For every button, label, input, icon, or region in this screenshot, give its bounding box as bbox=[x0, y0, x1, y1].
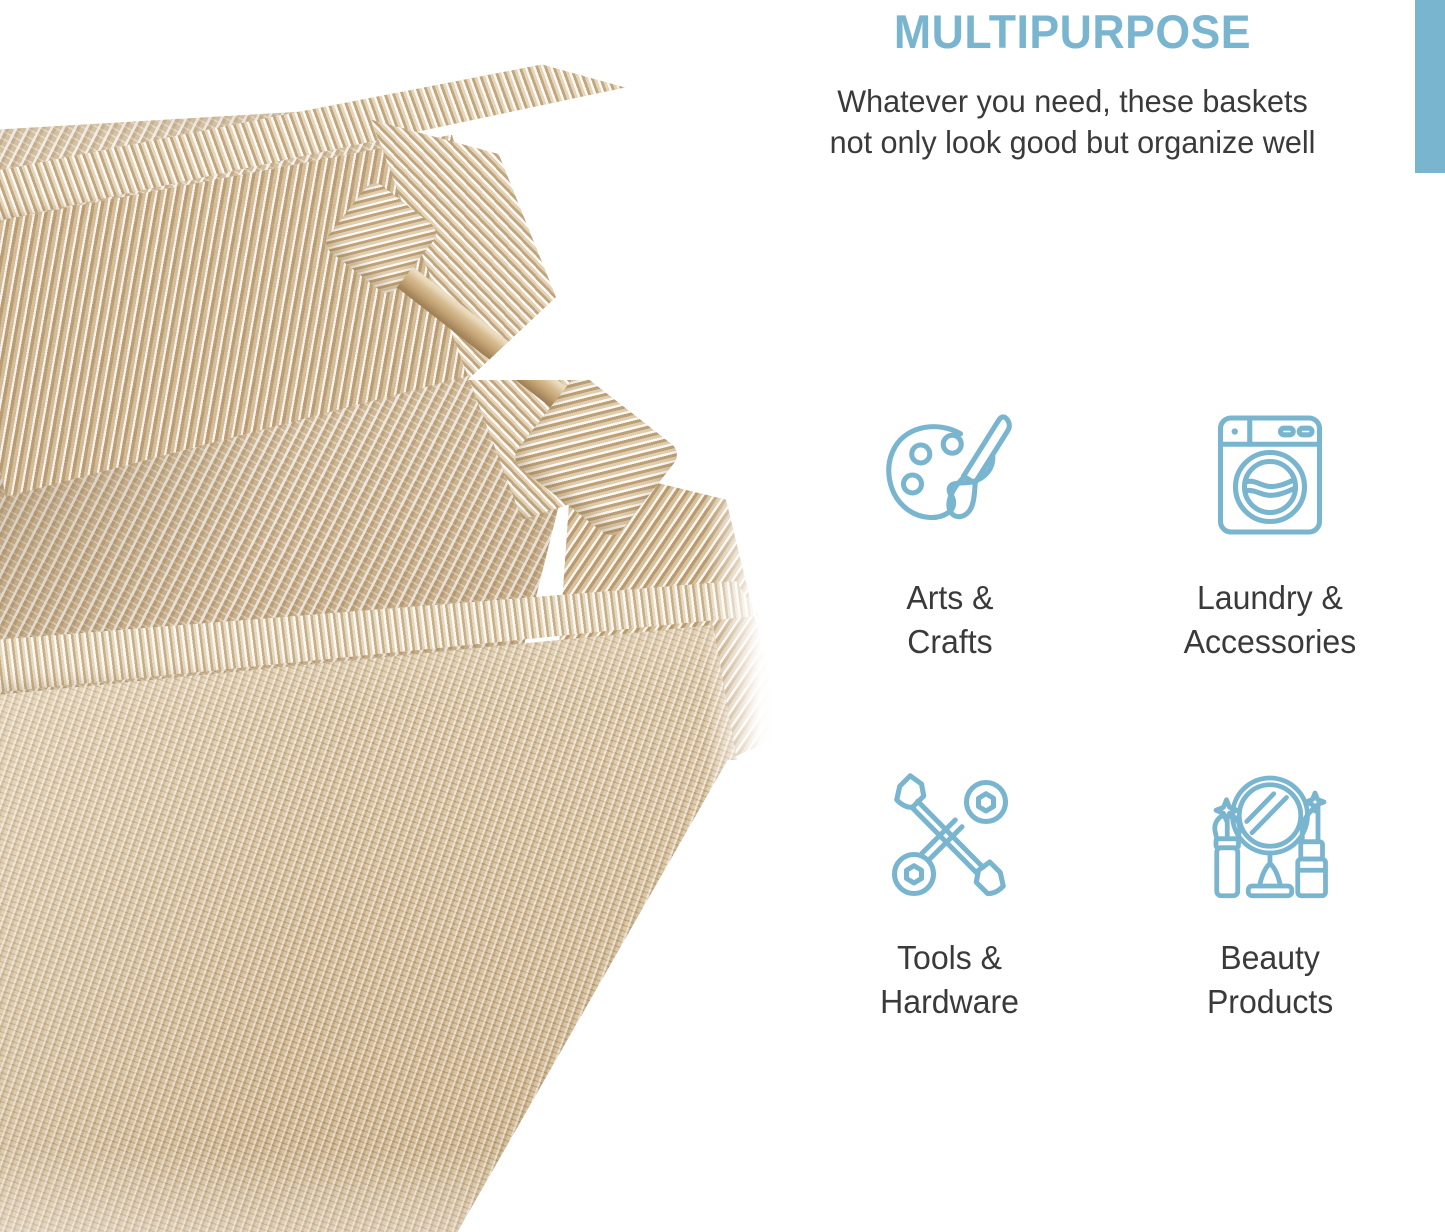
product-photo bbox=[0, 0, 775, 1232]
header-block: MULTIPURPOSE Whatever you need, these ba… bbox=[740, 0, 1405, 164]
palette-paintbrush-icon bbox=[875, 400, 1025, 550]
vanity-mirror-makeup-icon bbox=[1195, 760, 1345, 910]
feature-label-line-1: Arts & bbox=[906, 576, 993, 620]
feature-label-line-2: Accessories bbox=[1184, 620, 1357, 664]
subtitle: Whatever you need, these baskets not onl… bbox=[750, 81, 1395, 164]
feature-label-line-2: Crafts bbox=[906, 620, 993, 664]
feature-arts-crafts: Arts & Crafts bbox=[790, 400, 1110, 740]
feature-tools-hardware: Tools & Hardware bbox=[790, 760, 1110, 1100]
subtitle-line-2: not only look good but organize well bbox=[750, 122, 1395, 164]
accent-bar bbox=[1415, 0, 1445, 173]
page-title: MULTIPURPOSE bbox=[757, 6, 1389, 59]
feature-label: Arts & Crafts bbox=[906, 576, 993, 664]
feature-grid: Arts & Crafts bbox=[790, 400, 1430, 1100]
feature-label: Laundry & Accessories bbox=[1184, 576, 1357, 664]
washing-machine-icon bbox=[1195, 400, 1345, 550]
feature-beauty-products: Beauty Products bbox=[1110, 760, 1430, 1100]
feature-label: Beauty Products bbox=[1207, 936, 1333, 1024]
feature-label-line-1: Laundry & bbox=[1184, 576, 1357, 620]
feature-label-line-2: Products bbox=[1207, 980, 1333, 1024]
subtitle-line-1: Whatever you need, these baskets bbox=[750, 81, 1395, 123]
feature-label-line-1: Beauty bbox=[1207, 936, 1333, 980]
feature-laundry-accessories: Laundry & Accessories bbox=[1110, 400, 1430, 740]
feature-label-line-1: Tools & bbox=[881, 936, 1020, 980]
crossed-wrenches-icon bbox=[875, 760, 1025, 910]
feature-label-line-2: Hardware bbox=[881, 980, 1020, 1024]
feature-label: Tools & Hardware bbox=[881, 936, 1020, 1024]
